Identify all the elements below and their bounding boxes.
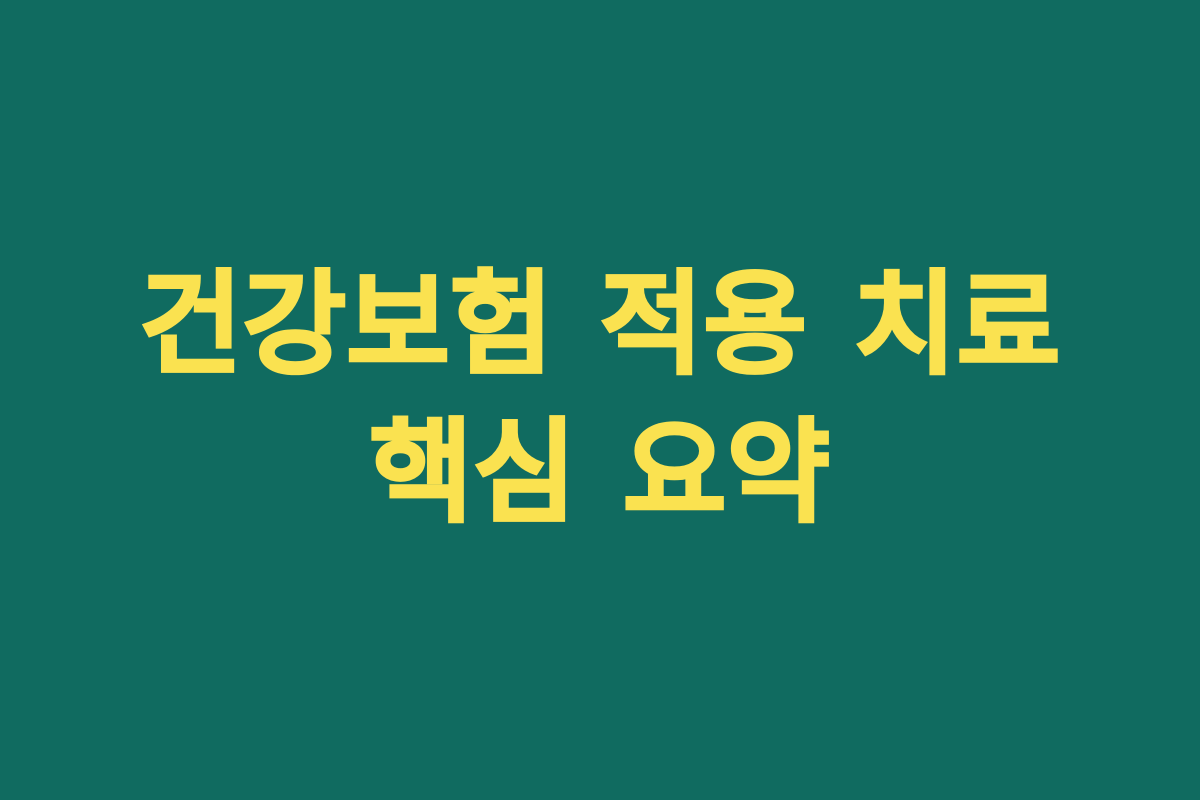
poster-canvas: 건강보험 적용 치료 핵심 요약 [0,0,1200,800]
page-title: 건강보험 적용 치료 핵심 요약 [78,252,1122,548]
headline-block: 건강보험 적용 치료 핵심 요약 [0,252,1200,548]
